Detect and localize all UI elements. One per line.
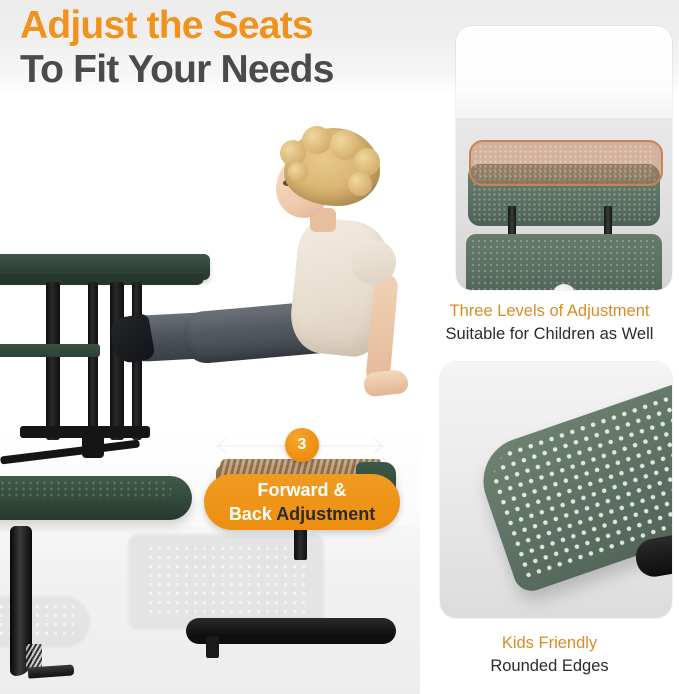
title-line-2: To Fit Your Needs bbox=[20, 48, 440, 92]
child-hair-curl bbox=[288, 162, 308, 182]
callout-line-1: Forward & bbox=[257, 478, 346, 502]
panel-top-background-upper bbox=[456, 26, 672, 126]
callout-line-2: Back Adjustment bbox=[229, 502, 375, 526]
three-levels-caption: Three Levels of Adjustment Suitable for … bbox=[420, 300, 679, 346]
table-hub-bracket bbox=[82, 432, 104, 458]
right-column: Three Levels of Adjustment Suitable for … bbox=[420, 0, 679, 694]
child-figure bbox=[236, 128, 420, 473]
main-product-photo bbox=[0, 96, 420, 694]
adjustment-level-badge: 3 bbox=[285, 428, 319, 462]
callout-line-2-dark: Adjustment bbox=[276, 504, 375, 524]
panel-top-highlight-perforation bbox=[473, 144, 655, 178]
table-leg bbox=[110, 282, 124, 440]
seat-clamp bbox=[206, 636, 219, 658]
child-hair-curl bbox=[348, 172, 372, 196]
rounded-edges-panel-image bbox=[440, 362, 672, 618]
rounded-edges-caption-line-1: Kids Friendly bbox=[420, 632, 679, 655]
table-leg bbox=[88, 282, 98, 440]
panel-top-lower-slat-perforation bbox=[470, 238, 658, 290]
table-leg bbox=[46, 282, 60, 440]
infographic-root: Adjust the Seats To Fit Your Needs bbox=[0, 0, 679, 694]
callout-line-2-white: Back bbox=[229, 504, 272, 524]
title-line-1: Adjust the Seats bbox=[20, 4, 440, 48]
child-hair-curl bbox=[302, 126, 332, 154]
far-bench-slab bbox=[0, 344, 100, 357]
three-levels-caption-line-1: Three Levels of Adjustment bbox=[420, 300, 679, 323]
page-title: Adjust the Seats To Fit Your Needs bbox=[20, 4, 440, 92]
rounded-edges-caption: Kids Friendly Rounded Edges bbox=[420, 632, 679, 678]
three-levels-caption-line-2: Suitable for Children as Well bbox=[420, 323, 679, 346]
table-top-edge bbox=[0, 274, 204, 285]
forward-back-adjustment-callout: Forward & Back Adjustment bbox=[204, 474, 400, 530]
seat-shadow-perforation bbox=[146, 544, 306, 618]
three-levels-panel-image bbox=[456, 26, 672, 290]
table-diagonal-brace bbox=[0, 439, 140, 464]
front-bench-perforation bbox=[0, 480, 172, 500]
rounded-edges-caption-line-2: Rounded Edges bbox=[420, 655, 679, 678]
child-hand bbox=[363, 369, 409, 397]
